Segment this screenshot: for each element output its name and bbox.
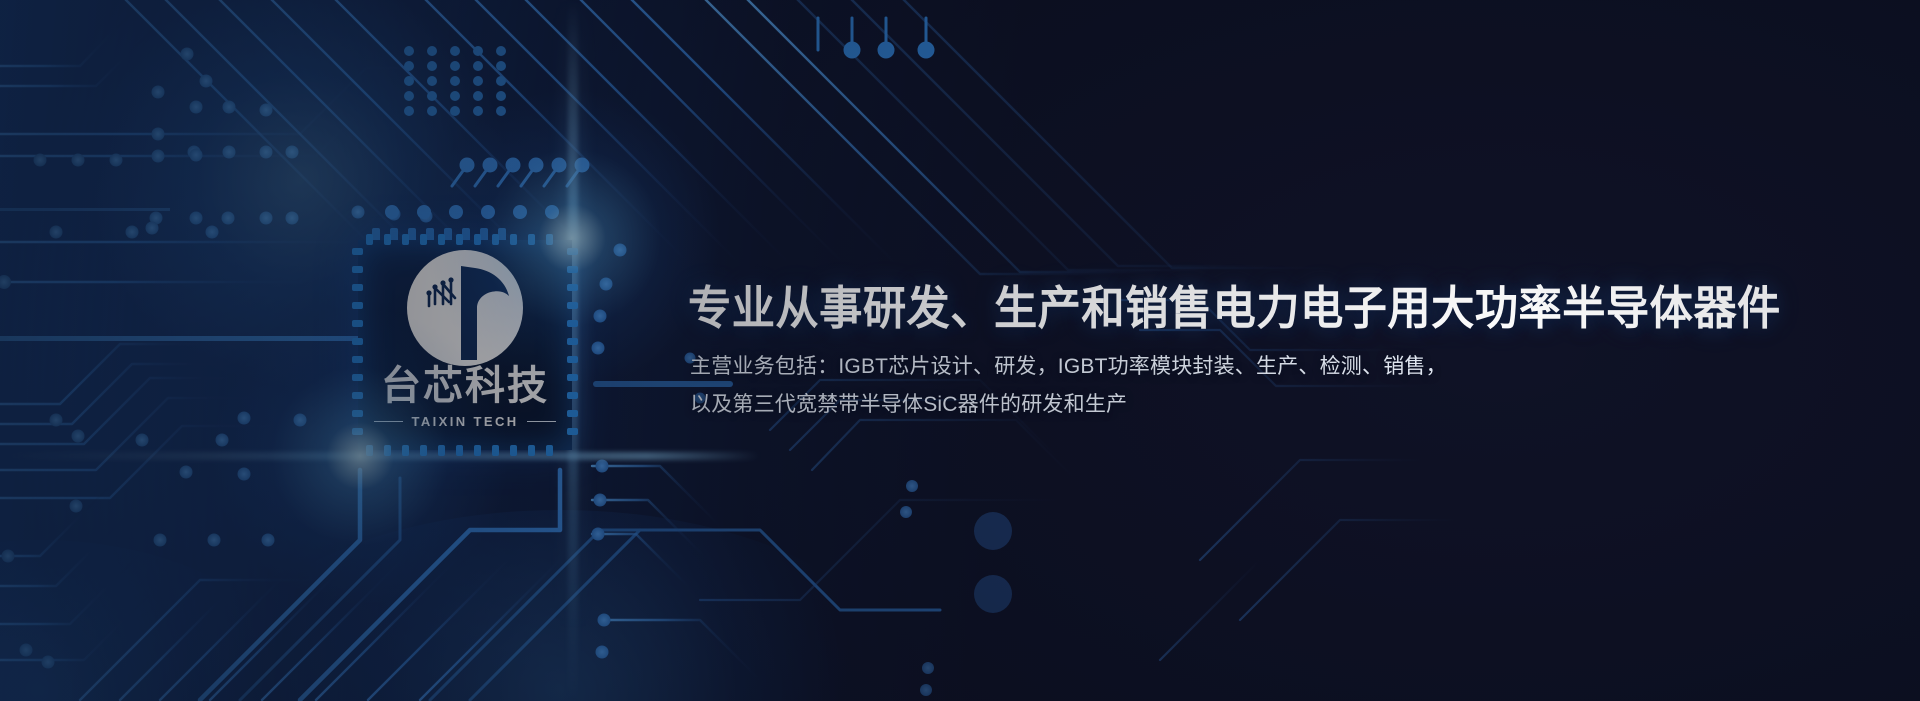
vignette-overlay xyxy=(0,0,1920,701)
hero-banner: 台芯科技 TAIXIN TECH 专业从事研发、生产和销售电力电子用大功率半导体… xyxy=(0,0,1920,701)
